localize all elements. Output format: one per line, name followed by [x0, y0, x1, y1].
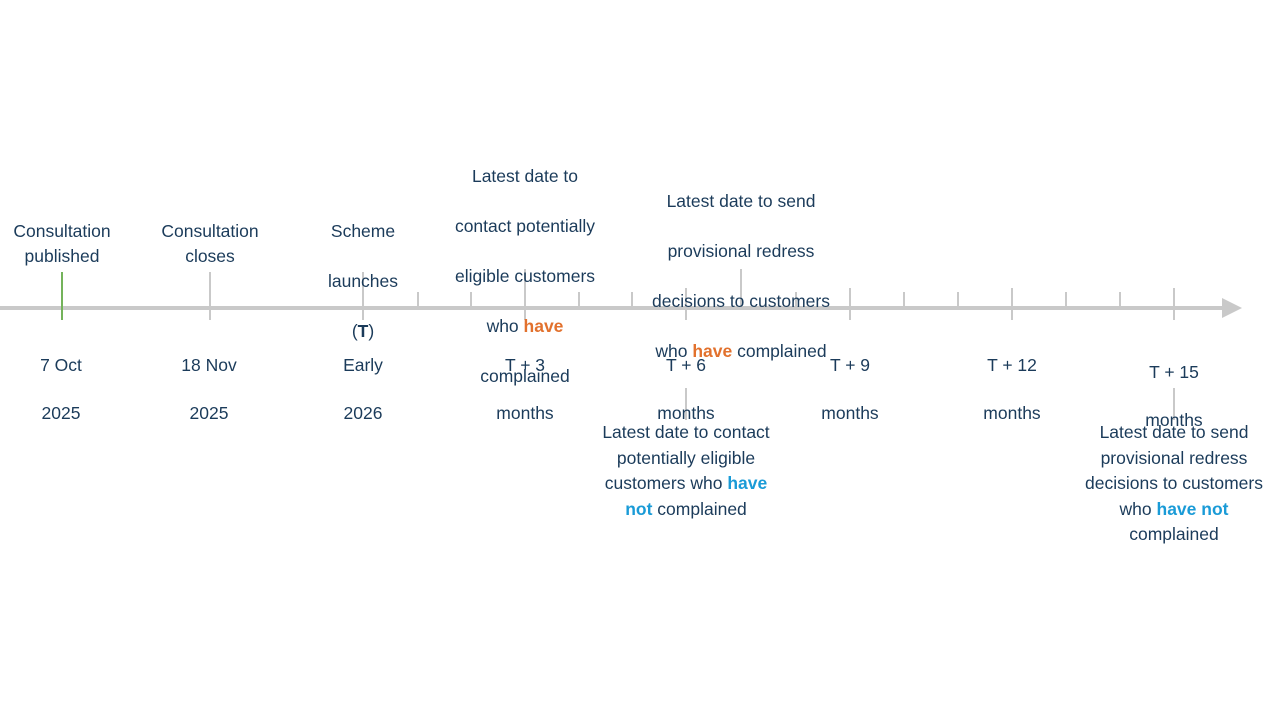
date-early-2026-line1: Early — [343, 355, 383, 375]
contact-not-complained-highlight-have: have — [727, 473, 767, 493]
tick-major-t-plus-12 — [1011, 288, 1013, 320]
date-t12-line1: T + 12 — [987, 355, 1037, 375]
milestone-label-consultation-closes: Consultation closes — [136, 219, 284, 269]
contact-complained-line2: contact potentially — [455, 216, 595, 236]
date-label-t-plus-3: T + 3 months — [464, 329, 586, 425]
contact-not-complained-line4-post: complained — [652, 499, 746, 519]
contact-complained-line1: Latest date to — [472, 166, 578, 186]
date-t15-line1: T + 15 — [1149, 362, 1199, 382]
contact-not-complained-line1: Latest date to contact — [602, 422, 769, 442]
redress-not-complained-line2: provisional redress — [1101, 448, 1248, 468]
date-label-7-oct-2025: 7 Oct 2025 — [0, 329, 122, 425]
scheme-launches-line2: launches — [328, 271, 398, 291]
date-early-2026-line2: 2026 — [344, 403, 383, 423]
date-7-oct-line2: 2025 — [42, 403, 81, 423]
timeline-diagram: Consultation published Consultation clos… — [0, 0, 1280, 720]
redress-complained-line1: Latest date to send — [667, 191, 816, 211]
date-18-nov-line1: 18 Nov — [181, 355, 236, 375]
redress-not-complained-line1: Latest date to send — [1100, 422, 1249, 442]
milestone-label-contact-not-complained: Latest date to contact potentially eligi… — [578, 420, 794, 522]
date-t9-line1: T + 9 — [830, 355, 870, 375]
date-7-oct-line1: 7 Oct — [40, 355, 82, 375]
timeline-arrow-icon — [1222, 298, 1242, 318]
tick-minor-10 — [1119, 292, 1121, 308]
contact-not-complained-line3-pre: customers who — [605, 473, 728, 493]
date-18-nov-line2: 2025 — [190, 403, 229, 423]
date-t9-line2: months — [821, 403, 878, 423]
milestone-label-consultation-published: Consultation published — [0, 219, 124, 269]
date-label-t-plus-9: T + 9 months — [789, 329, 911, 425]
redress-not-complained-line4-pre: who — [1120, 499, 1157, 519]
tick-major-consultation-published — [61, 272, 63, 320]
date-t3-line1: T + 3 — [505, 355, 545, 375]
contact-not-complained-line2: potentially eligible — [617, 448, 755, 468]
date-t12-line2: months — [983, 403, 1040, 423]
milestone-label-provisional-redress-not-complained: Latest date to send provisional redress … — [1066, 420, 1280, 548]
scheme-launches-line1: Scheme — [331, 221, 395, 241]
redress-not-complained-highlight-have-not: have not — [1157, 499, 1229, 519]
date-t3-line2: months — [496, 403, 553, 423]
contact-complained-line3: eligible customers — [455, 266, 595, 286]
tick-major-t-plus-15 — [1173, 288, 1175, 320]
date-label-early-2026: Early 2026 — [302, 329, 424, 425]
stem-consultation-closes — [209, 272, 211, 308]
contact-not-complained-highlight-not: not — [625, 499, 652, 519]
redress-complained-line2: provisional redress — [668, 241, 815, 261]
milestone-label-scheme-launches: Scheme launches (T) — [303, 194, 423, 344]
redress-not-complained-line3: decisions to customers — [1085, 473, 1263, 493]
date-label-t-plus-15: T + 15 months — [1113, 336, 1235, 432]
date-label-18-nov-2025: 18 Nov 2025 — [148, 329, 270, 425]
date-label-t-plus-6: T + 6 months — [625, 329, 747, 425]
tick-minor-9 — [1065, 292, 1067, 308]
tick-minor-8 — [957, 292, 959, 308]
date-label-t-plus-12: T + 12 months — [951, 329, 1073, 425]
tick-minor-7 — [903, 292, 905, 308]
date-t6-line1: T + 6 — [666, 355, 706, 375]
redress-complained-line3: decisions to customers — [652, 291, 830, 311]
redress-not-complained-line5: complained — [1129, 524, 1219, 544]
